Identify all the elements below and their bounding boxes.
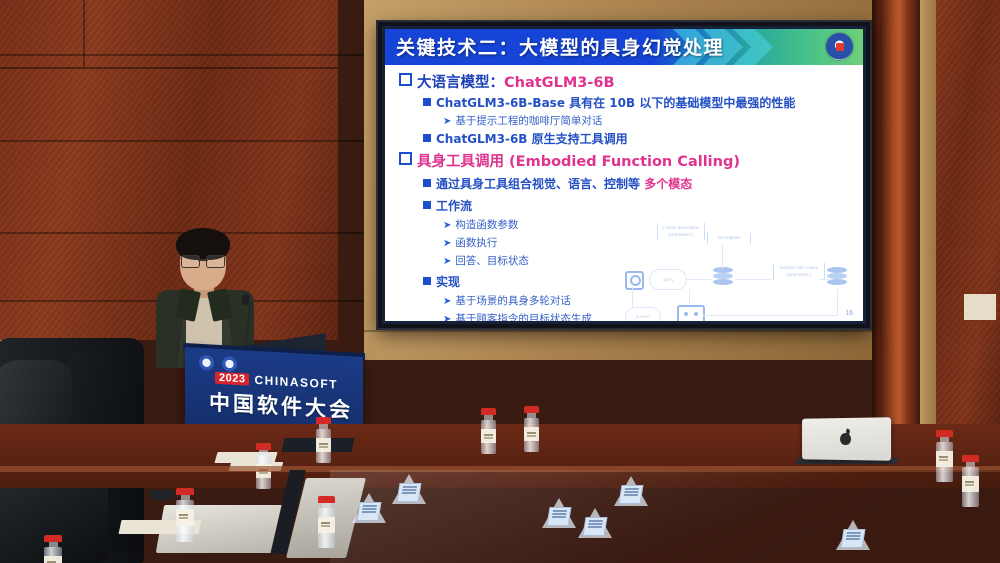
slide-title: 关键技术二：大模型的具身幻觉处理 — [396, 33, 724, 60]
solid-square-bullet-icon — [423, 179, 431, 187]
slide-title-bar: 关键技术二：大模型的具身幻觉处理 — [385, 29, 863, 65]
bullet-l2-native-tool: ChatGLM3-6B 原生支持工具调用 — [423, 130, 628, 147]
solid-square-bullet-icon — [423, 277, 431, 285]
arrow-bullet-icon: ➤ — [443, 116, 451, 127]
laptop-lid — [802, 417, 891, 461]
water-bottle — [44, 535, 62, 563]
arrow-bullet-icon: ➤ — [443, 314, 451, 321]
hollow-square-bullet-icon — [399, 152, 412, 165]
arrow-bullet-icon: ➤ — [443, 238, 451, 249]
bullet-l2-base-perf: ChatGLM3-6B-Base 具有在 10B 以下的基础模型中最强的性能 — [423, 94, 795, 111]
connector — [703, 315, 837, 316]
water-bottle — [316, 417, 331, 463]
model-db-icon-2 — [827, 267, 847, 289]
screenshot-root: 关键技术二：大模型的具身幻觉处理 大语言模型：ChatGLM3-6B ChatG… — [0, 0, 1000, 563]
arrow-bullet-icon: ➤ — [443, 220, 451, 231]
nameplate-stand — [542, 498, 576, 528]
nameplate-stand — [614, 476, 648, 506]
badge-icon-1 — [199, 355, 214, 371]
bullet-l3-prompt-dialog: ➤基于提示工程的咖啡厅简单对话 — [443, 113, 602, 128]
bullet-l3-goal-state: ➤基于顾客指令的目标状态生成 — [443, 311, 592, 321]
podium-year: 2023 — [215, 372, 249, 386]
model-db-icon-1 — [713, 267, 733, 289]
bullet-l3-scene-dialog: ➤基于场景的具身多轮对话 — [443, 293, 571, 308]
tool-definition-box: ( name description parameters ) — [657, 223, 705, 240]
presentation-screen: 关键技术二：大模型的具身幻觉处理 大语言模型：ChatGLM3-6B ChatG… — [378, 22, 870, 328]
bullet-l1-embodied: 具身工具调用 (Embodied Function Calling) — [399, 150, 740, 171]
connector — [722, 245, 723, 269]
water-bottle — [176, 488, 194, 542]
wall-switch-plate — [962, 292, 998, 322]
podium-badges — [199, 355, 237, 372]
user-icon — [625, 271, 644, 290]
wall-trim-right — [920, 0, 936, 424]
university-emblem-icon — [826, 33, 853, 60]
water-bottle — [318, 496, 335, 548]
microphone-head — [242, 294, 249, 305]
podium-banner: 2023 CHINASOFT 中国软件大会 — [185, 347, 363, 435]
slide-body: 大语言模型：ChatGLM3-6B ChatGLM3-6B-Base 具有在 1… — [385, 65, 863, 321]
wood-column — [880, 0, 920, 424]
solid-square-bullet-icon — [423, 201, 431, 209]
nameplate-stand — [352, 493, 386, 523]
bullet-l2-modalities: 通过具身工具组合视觉、语言、控制等 多个模态 — [423, 175, 692, 192]
macbook-laptop — [800, 418, 896, 464]
query-cloud-icon: query — [649, 269, 687, 290]
arrow-bullet-icon: ➤ — [443, 256, 451, 267]
glasses-icon — [181, 255, 225, 266]
badge-icon-2 — [222, 356, 237, 372]
bullet-l3-answer-state: ➤回答、目标状态 — [443, 253, 529, 268]
hollow-square-bullet-icon — [399, 73, 412, 86]
robot-icon — [677, 305, 705, 321]
water-bottle — [962, 455, 979, 507]
connector — [819, 279, 829, 280]
answer-cloud-icon: answer — [625, 307, 661, 321]
nameplate-stand — [836, 520, 870, 550]
bullet-l3-exec: ➤函数执行 — [443, 235, 497, 250]
tool-register-box: tool register — [707, 233, 751, 244]
slide-page-number: 16 — [845, 310, 853, 317]
bullet-l2-workflow: 工作流 — [423, 197, 472, 214]
bullet-l2-implementation: 实现 — [423, 273, 460, 290]
water-bottle — [936, 430, 953, 482]
connector — [837, 289, 838, 315]
water-bottle — [481, 408, 496, 454]
connector — [632, 287, 633, 307]
solid-square-bullet-icon — [423, 98, 431, 106]
connector — [685, 279, 711, 280]
function-call-box: function call ( name parameters ) — [773, 263, 825, 280]
bullet-l1-llm: 大语言模型：ChatGLM3-6B — [399, 71, 615, 92]
nameplate-stand — [392, 474, 426, 504]
connector — [689, 289, 690, 305]
apple-logo-icon — [840, 433, 851, 445]
arrow-bullet-icon: ➤ — [443, 296, 451, 307]
phone-device — [150, 490, 174, 500]
nameplate-stand — [578, 508, 612, 538]
bullet-l3-build-args: ➤构造函数参数 — [443, 217, 518, 232]
connector — [735, 279, 771, 280]
podium-chinese-title: 中国软件大会 — [209, 386, 353, 424]
function-calling-workflow-diagram: ( name description parameters ) tool reg… — [621, 223, 861, 321]
slide-surface: 关键技术二：大模型的具身幻觉处理 大语言模型：ChatGLM3-6B ChatG… — [385, 29, 863, 321]
water-bottle — [524, 406, 539, 452]
solid-square-bullet-icon — [423, 134, 431, 142]
